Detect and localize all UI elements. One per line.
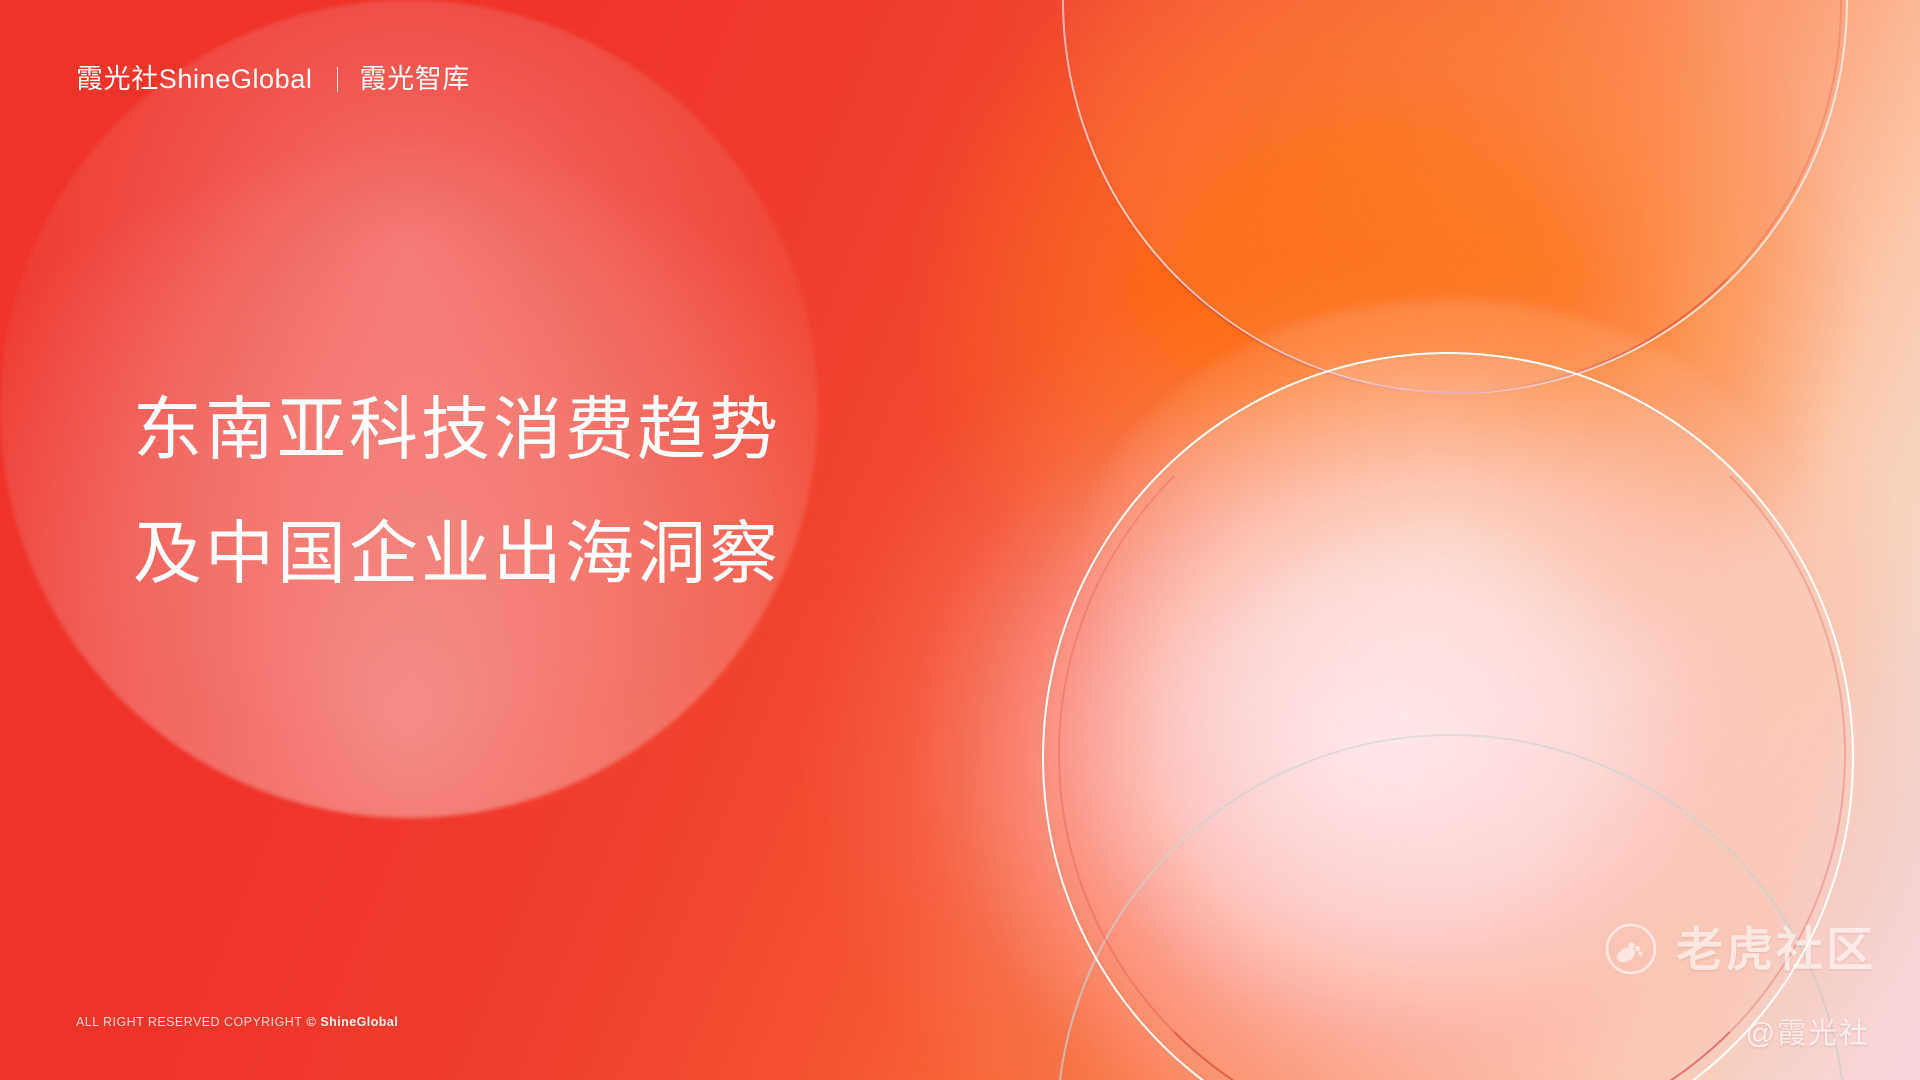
presentation-slide: 霞光社ShineGlobal 霞光智库 东南亚科技消费趋势 及中国企业出海洞察 …: [0, 0, 1920, 1080]
registered-mark-icon: ©: [306, 1014, 316, 1029]
watermark-community: 老虎社区: [1604, 922, 1876, 976]
copyright-text: ALL RIGHT RESERVED COPYRIGHT: [76, 1015, 302, 1029]
brand-bar: 霞光社ShineGlobal 霞光智库: [76, 66, 470, 93]
slide-title: 东南亚科技消费趋势 及中国企业出海洞察: [133, 368, 781, 616]
brand-divider: [337, 67, 338, 92]
slide-title-line-2: 及中国企业出海洞察: [133, 492, 781, 616]
slide-content: 霞光社ShineGlobal 霞光智库 东南亚科技消费趋势 及中国企业出海洞察 …: [0, 0, 1920, 1080]
watermark-community-label: 老虎社区: [1676, 926, 1876, 973]
copyright-notice: ALL RIGHT RESERVED COPYRIGHT © ShineGlob…: [76, 1014, 398, 1029]
tiger-paw-circle-icon: [1604, 922, 1658, 976]
watermark-handle: @霞光社: [1746, 1020, 1870, 1049]
brand-secondary-label: 霞光智库: [360, 66, 470, 93]
copyright-brand: ShineGlobal: [320, 1015, 398, 1029]
brand-primary-label: 霞光社ShineGlobal: [76, 66, 313, 93]
slide-title-line-1: 东南亚科技消费趋势: [133, 368, 781, 492]
